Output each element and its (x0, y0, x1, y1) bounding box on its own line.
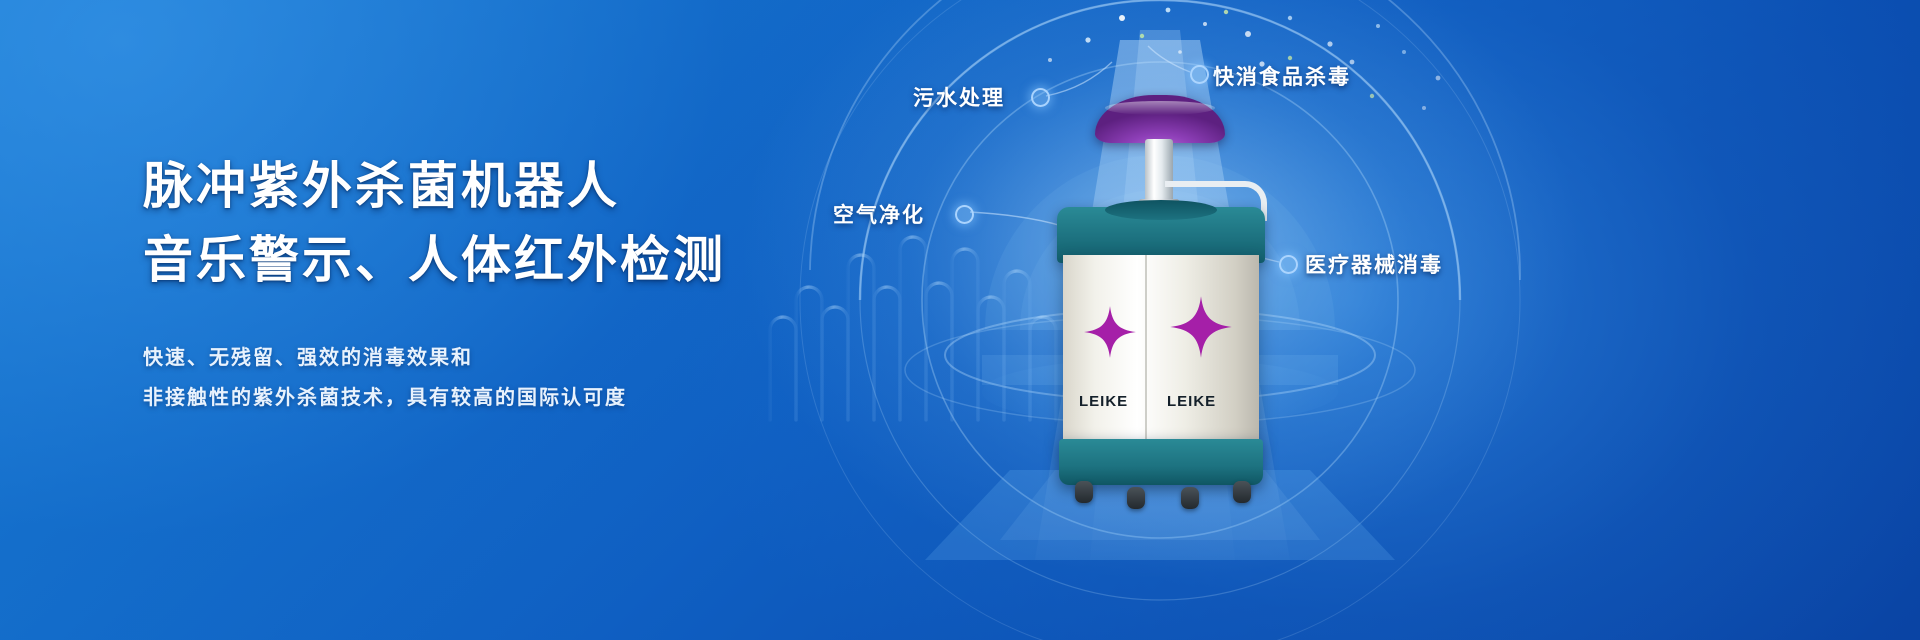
page-title-line2: 音乐警示、人体红外检测 (143, 224, 883, 296)
robot-wheel (1075, 481, 1093, 503)
uv-disinfection-robot-illustration: LEIKE LEIKE (1035, 95, 1285, 495)
callout-label-medical-disinfection: 医疗器械消毒 (1305, 249, 1443, 279)
hero-subtitle-line2: 非接触性的紫外杀菌技术，具有较高的国际认可度 (143, 378, 883, 418)
sparkle-star-icon-right (1169, 295, 1233, 359)
hero-text-block: 脉冲紫外杀菌机器人 音乐警示、人体红外检测 快速、无残留、强效的消毒效果和 非接… (143, 150, 883, 418)
callout-label-air-purification: 空气净化 (833, 199, 925, 229)
robot-wheel (1181, 487, 1199, 509)
page-title-line1: 脉冲紫外杀菌机器人 (143, 150, 883, 222)
promo-banner: 脉冲紫外杀菌机器人 音乐警示、人体红外检测 快速、无残留、强效的消毒效果和 非接… (0, 0, 1920, 640)
callout-node-food-sterilization-icon (1190, 65, 1209, 84)
hero-subtitle-line1: 快速、无残留、强效的消毒效果和 (143, 338, 883, 378)
robot-base (1059, 439, 1263, 485)
robot-body-edge (1145, 255, 1147, 445)
product-brand-right: LEIKE (1167, 393, 1216, 410)
callout-node-air-purification-icon (955, 205, 974, 224)
callout-label-food-sterilization: 快消食品杀毒 (1213, 61, 1351, 91)
sparkle-star-icon-left (1083, 305, 1137, 359)
callout-label-waste-water: 污水处理 (913, 82, 1005, 112)
product-brand-left: LEIKE (1079, 393, 1128, 410)
robot-wheel (1127, 487, 1145, 509)
uv-lamp-head (1095, 95, 1225, 143)
robot-wheel (1233, 481, 1251, 503)
